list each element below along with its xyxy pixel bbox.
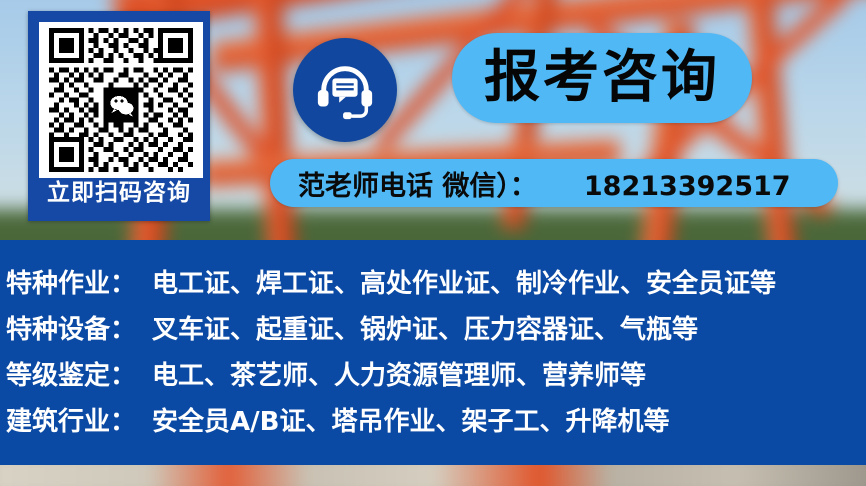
service-row: 等级鉴定： 电工、茶艺师、人力资源管理师、营养师等 [0,350,866,396]
title-pill[interactable]: 报考咨询 [452,33,752,123]
headset-support-icon[interactable] [293,38,397,142]
phone-pill[interactable]: 范老师电话 微信）： 18213392517 [270,159,838,207]
service-value: 安全员A/B证、塔吊作业、架子工、升降机等 [152,401,669,438]
qr-caption: 立即扫码咨询 [32,173,206,213]
service-row: 特种设备： 叉车证、起重证、锅炉证、压力容器证、气瓶等 [0,304,866,350]
qr-code-matrix [45,28,197,172]
service-value: 电工证、焊工证、高处作业证、制冷作业、安全员证等 [152,263,776,300]
service-label: 特种作业： [6,263,136,300]
poster-root: 立即扫码咨询 报考咨询 范老师电话 微信）： 18213392517 特种作业：… [0,0,866,486]
service-label: 特种设备： [6,309,136,346]
qr-card[interactable]: 立即扫码咨询 [28,11,210,221]
title-text: 报考咨询 [484,50,720,106]
service-value: 叉车证、起重证、锅炉证、压力容器证、气瓶等 [152,309,698,346]
service-row: 建筑行业： 安全员A/B证、塔吊作业、架子工、升降机等 [0,396,866,442]
service-row: 特种作业： 电工证、焊工证、高处作业证、制冷作业、安全员证等 [0,258,866,304]
qr-code-image[interactable] [39,22,203,178]
service-label: 建筑行业： [6,401,136,438]
service-panel: 特种作业： 电工证、焊工证、高处作业证、制冷作业、安全员证等 特种设备： 叉车证… [0,240,866,465]
wechat-icon [105,89,138,122]
bottom-photo-strip [0,465,866,486]
service-value: 电工、茶艺师、人力资源管理师、营养师等 [152,355,646,392]
service-label: 等级鉴定： [6,355,136,392]
headset-icon [314,59,376,121]
phone-text: 范老师电话 微信）： 18213392517 [298,164,791,203]
